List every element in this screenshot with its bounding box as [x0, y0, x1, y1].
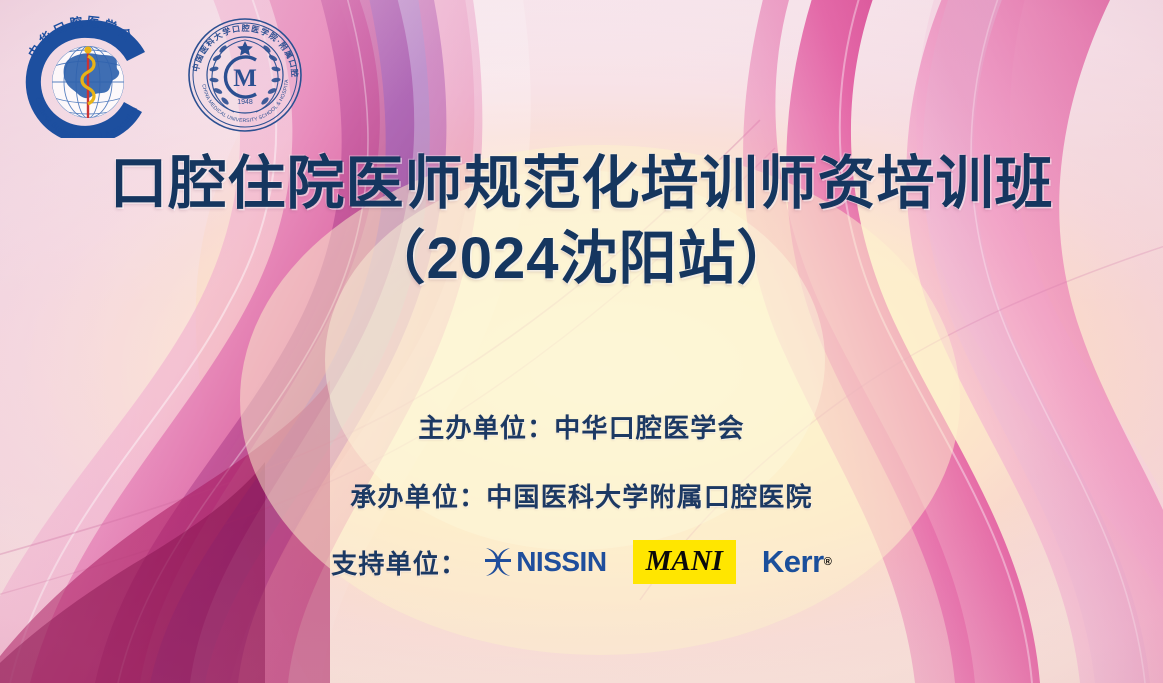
host-organization-line: 主办单位：中华口腔医学会: [0, 408, 1163, 445]
svg-text:1948: 1948: [237, 99, 253, 106]
nissin-wordmark: NISSIN: [516, 546, 606, 578]
china-medical-university-stomatology-logo: M 1948 中国医科大学口腔医学院·附属口腔医院 CHINA MEDICAL …: [186, 16, 304, 134]
kerr-trademark-icon: ®: [824, 556, 832, 568]
credits-block: 主办单位：中华口腔医学会 承办单位：中国医科大学附属口腔医院 支持单位： NIS…: [0, 408, 1163, 584]
logo-group: 中华口腔医学会 Chinese Stomatological Associati…: [14, 12, 304, 138]
mani-logo-box: MANI: [633, 540, 736, 584]
kerr-wordmark: Kerr: [762, 544, 824, 580]
organizer-organization-line: 承办单位：中国医科大学附属口腔医院: [0, 477, 1163, 514]
mani-wordmark: MANI: [646, 545, 723, 577]
sponsor-nissin: NISSIN: [483, 546, 606, 578]
poster-title-line2: （2024沈阳站）: [0, 227, 1163, 292]
svg-text:M: M: [233, 65, 257, 92]
sponsor-mani: MANI: [633, 540, 736, 584]
poster-title-block: 口腔住院医师规范化培训师资培训班 （2024沈阳站）: [0, 152, 1163, 292]
supporters-label: 支持单位：: [331, 544, 467, 581]
poster-title-line1: 口腔住院医师规范化培训师资培训班: [0, 152, 1163, 217]
conference-poster: 中华口腔医学会 Chinese Stomatological Associati…: [0, 0, 1163, 683]
supporters-row: 支持单位： NISSIN MANI Kerr®: [0, 540, 1163, 584]
sponsor-kerr: Kerr®: [762, 544, 832, 580]
chinese-stomatological-association-logo: 中华口腔医学会 Chinese Stomatological Associati…: [14, 12, 164, 138]
nissin-mark-icon: [483, 546, 513, 578]
